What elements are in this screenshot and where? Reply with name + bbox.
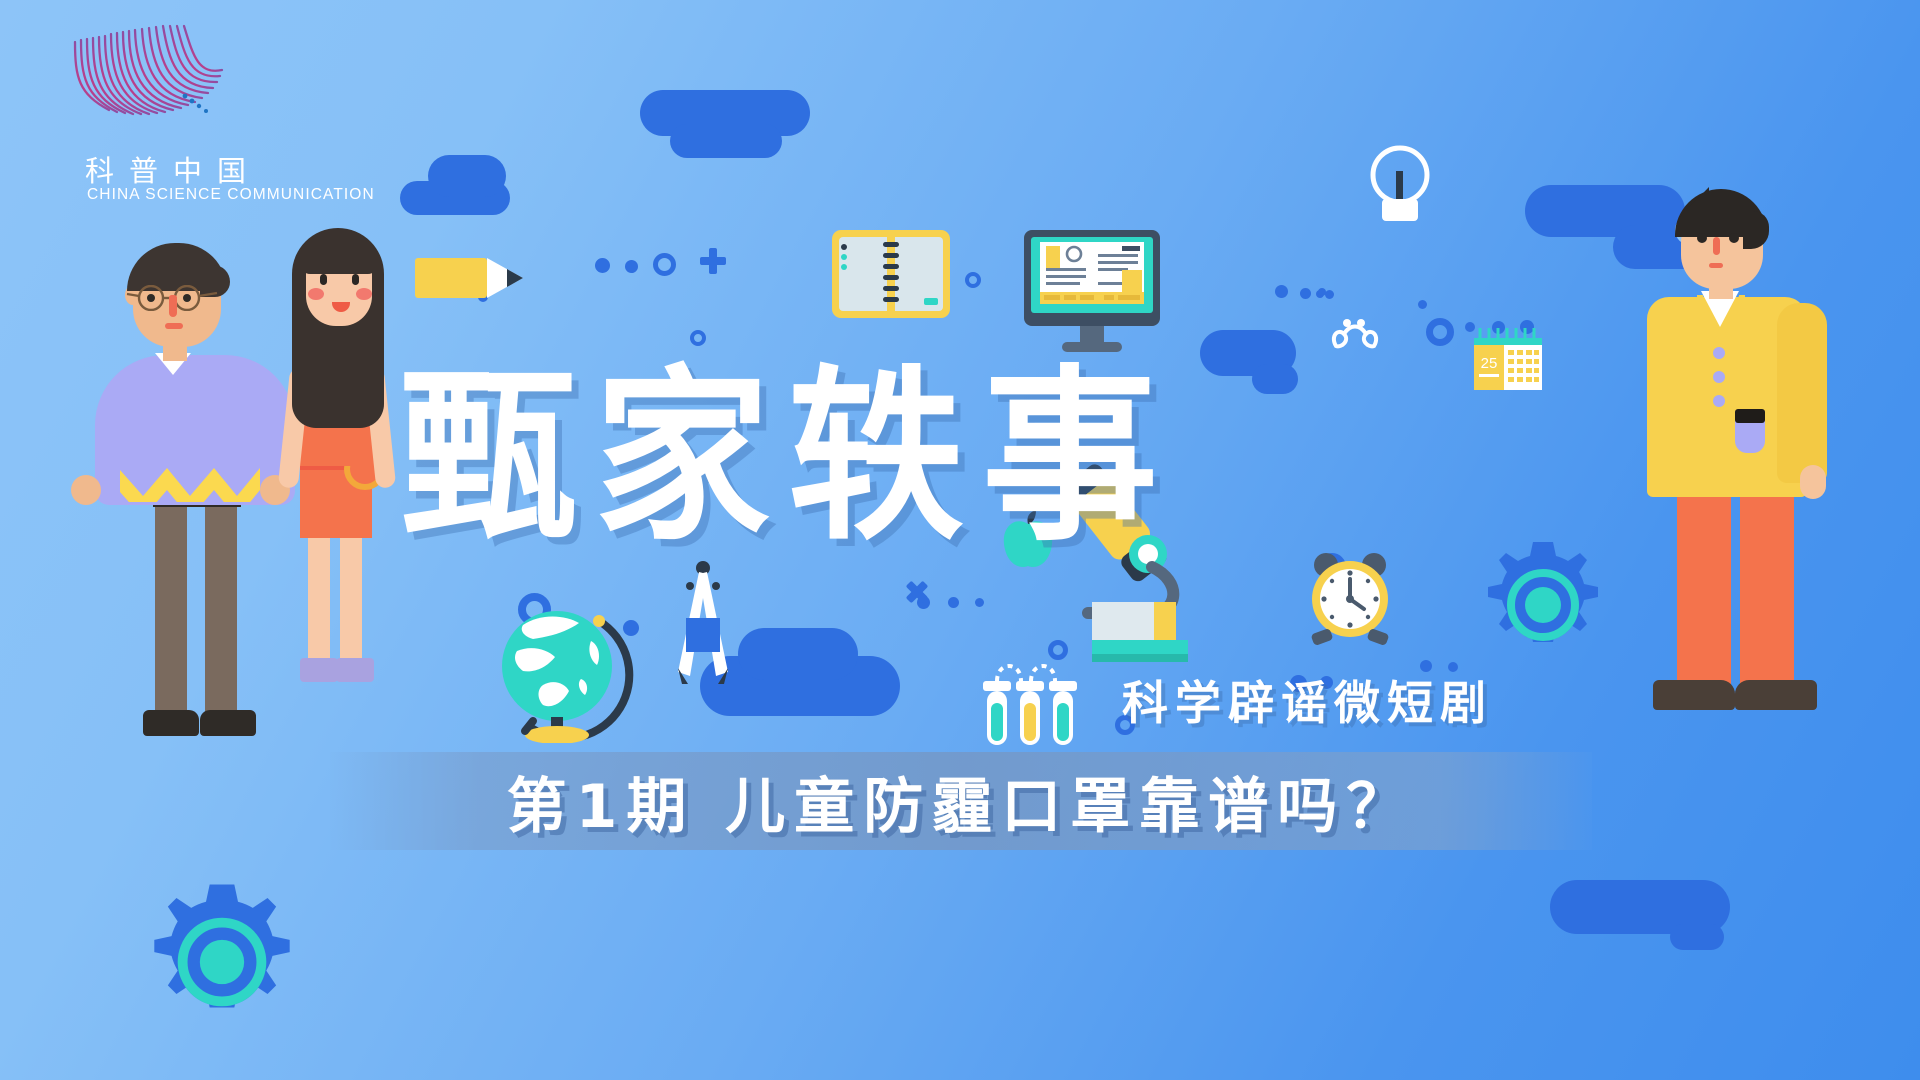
shoe [143, 710, 199, 736]
atom-icon [1330, 318, 1380, 357]
monitor-icon [1018, 230, 1166, 363]
brand-name-en: CHINA SCIENCE COMMUNICATION [87, 186, 375, 204]
blush [308, 288, 324, 300]
dot-decor [1325, 290, 1334, 299]
page-title: 甄家轶事 [400, 368, 1520, 548]
dot-decor [1275, 285, 1288, 298]
hand [71, 475, 101, 505]
shoe [1735, 680, 1817, 710]
character-boy [1635, 175, 1855, 735]
beaker-icon [1092, 602, 1188, 673]
leg [1677, 497, 1731, 697]
leg [308, 528, 330, 668]
dot-decor [625, 260, 638, 273]
dot-decor [975, 598, 984, 607]
lightbulb-icon [1365, 143, 1435, 226]
compass-icon [668, 560, 738, 690]
hair-side [1743, 211, 1769, 249]
leg [1740, 497, 1794, 697]
dot-decor [595, 258, 610, 273]
dot-decor [1300, 288, 1311, 299]
blush [356, 288, 372, 300]
episode-band: 第1期 儿童防霾口罩靠谱吗？ [330, 752, 1592, 850]
alarm-clock-icon [1300, 547, 1400, 652]
leg [155, 500, 187, 720]
sub-headline: 科学辟谣微短剧 [1122, 667, 1493, 733]
pocket-flap [1735, 409, 1765, 423]
pencil-icon [415, 248, 540, 313]
gear-icon [1478, 540, 1608, 675]
button [1713, 395, 1725, 407]
feather-logo-icon [65, 18, 265, 158]
episode-title: 第1期 儿童防霾口罩靠谱吗？ [330, 752, 1592, 850]
brand-name-cn: 科普中国 [85, 148, 261, 190]
ring-decor [965, 272, 981, 288]
character-girl [278, 218, 398, 718]
hair-fringe [300, 230, 378, 274]
dot-decor [948, 597, 959, 608]
hand [1800, 465, 1826, 499]
shoe [1653, 680, 1735, 710]
nose [169, 295, 177, 317]
shoe [200, 710, 256, 736]
poster-canvas: 科普中国 CHINA SCIENCE COMMUNICATION [0, 0, 1920, 1080]
ring-decor [653, 253, 676, 276]
ring-decor [1426, 318, 1454, 346]
brand-logo: 科普中国 CHINA SCIENCE COMMUNICATION [55, 18, 325, 218]
mouth [165, 323, 183, 329]
mouth [1709, 263, 1723, 268]
dot-decor [1418, 300, 1427, 309]
plus-decor [700, 248, 726, 274]
ring-decor [690, 330, 706, 346]
character-grandfather [55, 225, 305, 745]
coat-sleeve [1777, 303, 1827, 483]
globe-icon [495, 593, 635, 748]
gear-icon [142, 882, 302, 1047]
sweater-zigzag [120, 460, 260, 502]
eye [1729, 233, 1739, 243]
button [1713, 347, 1725, 359]
leg [340, 528, 362, 668]
eye [352, 274, 359, 285]
eye [320, 274, 327, 285]
nose [1713, 237, 1720, 255]
test-tubes-icon [975, 655, 1085, 760]
button [1713, 371, 1725, 383]
leg [205, 500, 237, 720]
sandal [300, 658, 338, 682]
eye [1697, 233, 1707, 243]
notebook-icon [832, 230, 950, 323]
sandal [336, 658, 374, 682]
dot-decor [1318, 288, 1326, 296]
